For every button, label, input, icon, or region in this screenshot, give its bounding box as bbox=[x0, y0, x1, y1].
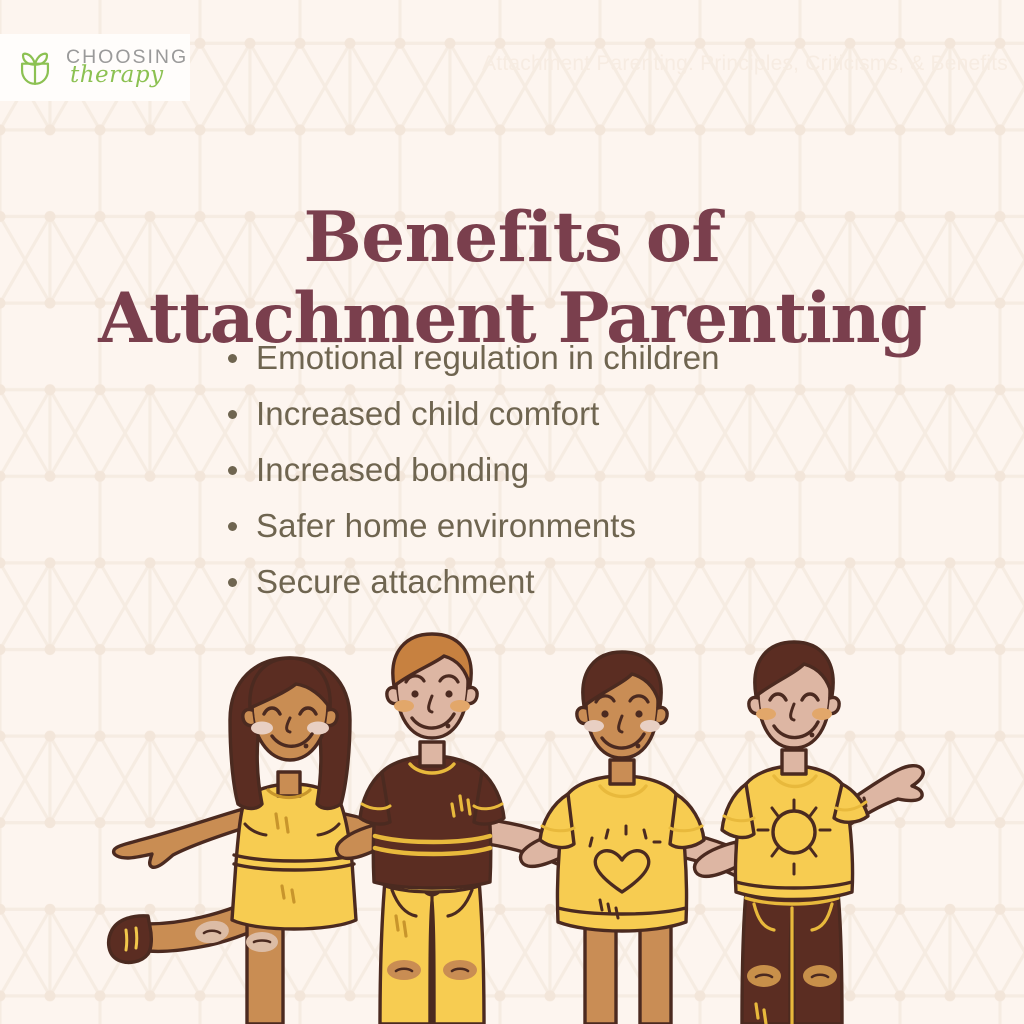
bullet-dot-icon bbox=[228, 466, 237, 475]
bullet-dot-icon bbox=[228, 522, 237, 531]
figure-boy-heart-shirt bbox=[521, 652, 742, 1024]
benefits-list: Emotional regulation in children Increas… bbox=[228, 330, 720, 610]
logo-wordmark: CHOOSING therapy bbox=[66, 48, 188, 88]
list-item-label: Secure attachment bbox=[256, 563, 535, 601]
page-title-line-1: Benefits of bbox=[0, 198, 1024, 279]
bullet-dot-icon bbox=[228, 410, 237, 419]
choosing-therapy-logo[interactable]: CHOOSING therapy bbox=[0, 34, 190, 101]
list-item-label: Emotional regulation in children bbox=[256, 339, 720, 377]
bullet-dot-icon bbox=[228, 354, 237, 363]
four-children-illustration bbox=[0, 624, 1024, 1024]
article-title-caption: Attachment Parenting: Principles, Critic… bbox=[482, 52, 1008, 76]
bullet-dot-icon bbox=[228, 578, 237, 587]
list-item-label: Increased bonding bbox=[256, 451, 529, 489]
infographic-canvas: CHOOSING therapy Attachment Parenting: P… bbox=[0, 0, 1024, 1024]
figure-boy-sun-shirt-waving bbox=[695, 642, 924, 1024]
list-item: Emotional regulation in children bbox=[228, 330, 720, 386]
list-item-label: Safer home environments bbox=[256, 507, 636, 545]
list-item: Increased child comfort bbox=[228, 386, 720, 442]
list-item-label: Increased child comfort bbox=[256, 395, 599, 433]
list-item: Safer home environments bbox=[228, 498, 720, 554]
list-item: Increased bonding bbox=[228, 442, 720, 498]
logo-therapy-text: therapy bbox=[70, 64, 188, 87]
figure-boy-ginger bbox=[337, 634, 568, 1024]
leaf-logo-icon bbox=[12, 45, 58, 91]
list-item: Secure attachment bbox=[228, 554, 720, 610]
